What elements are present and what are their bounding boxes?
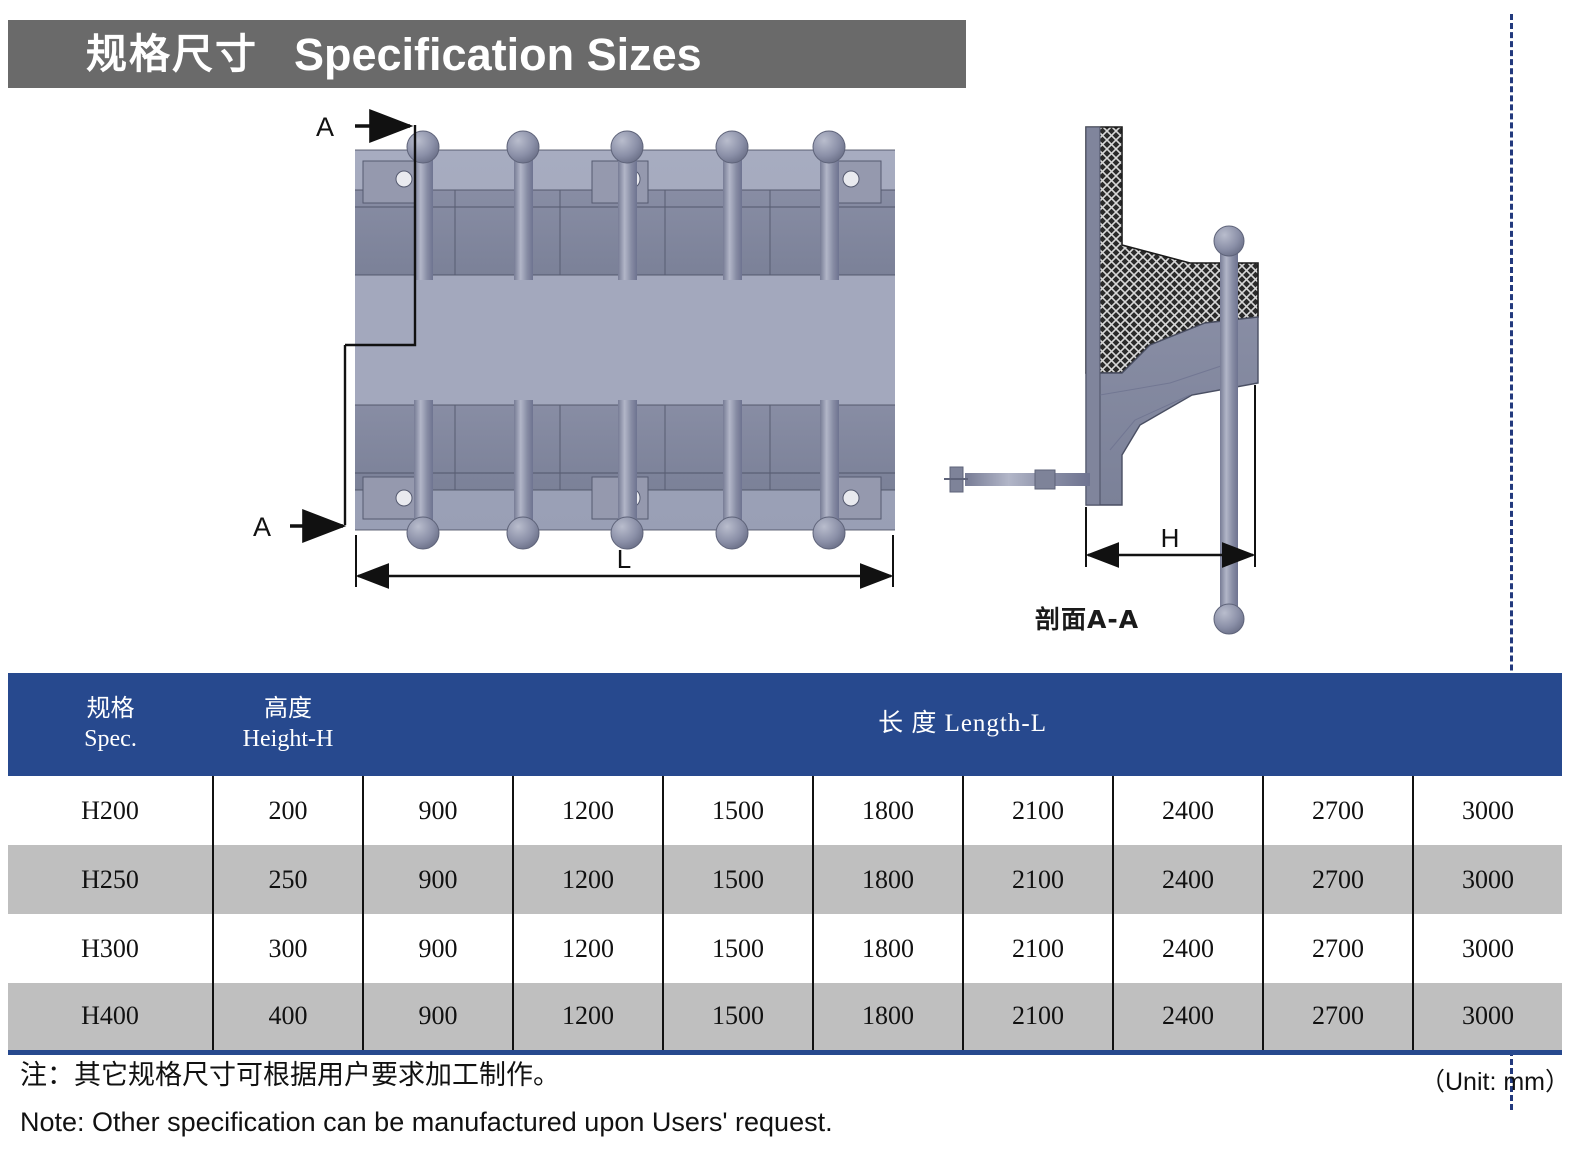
cell-length: 2400 bbox=[1113, 914, 1263, 983]
table-row: H300 300 900 1200 1500 1800 2100 2400 27… bbox=[8, 914, 1562, 983]
footer-notes: 注：其它规格尺寸可根据用户要求加工制作。 Note: Other specifi… bbox=[20, 1058, 1420, 1141]
cell-spec: H250 bbox=[8, 845, 213, 914]
header-length: 长 度 Length-L bbox=[363, 673, 1562, 776]
banner-title-english: Specification Sizes bbox=[294, 32, 702, 77]
note-chinese: 注：其它规格尺寸可根据用户要求加工制作。 bbox=[20, 1058, 1420, 1094]
table-body: H200 200 900 1200 1500 1800 2100 2400 27… bbox=[8, 776, 1562, 1052]
cell-length: 3000 bbox=[1413, 914, 1562, 983]
cell-length: 900 bbox=[363, 983, 513, 1052]
cell-length: 1200 bbox=[513, 983, 663, 1052]
cell-length: 2700 bbox=[1263, 776, 1413, 845]
cell-spec: H200 bbox=[8, 776, 213, 845]
note-english: Note: Other specification can be manufac… bbox=[20, 1104, 1420, 1140]
table-header: 规格 Spec. 高度 Height-H 长 度 Length-L bbox=[8, 673, 1562, 776]
length-dimension-label: L bbox=[617, 544, 631, 574]
cell-length: 2100 bbox=[963, 983, 1113, 1052]
cell-length: 1800 bbox=[813, 983, 963, 1052]
height-dimension-label: H bbox=[1161, 523, 1180, 553]
cell-length: 3000 bbox=[1413, 845, 1562, 914]
cell-length: 1500 bbox=[663, 983, 813, 1052]
header-height-cn: 高度 bbox=[214, 695, 362, 724]
cell-length: 1800 bbox=[813, 845, 963, 914]
cell-length: 1800 bbox=[813, 914, 963, 983]
cell-length: 900 bbox=[363, 845, 513, 914]
banner-title-chinese: 规格尺寸 bbox=[86, 34, 258, 75]
section-side-bolt bbox=[944, 467, 1090, 492]
page-header-banner: 规格尺寸 Specification Sizes bbox=[8, 20, 966, 88]
cell-length: 2700 bbox=[1263, 914, 1413, 983]
cell-length: 2400 bbox=[1113, 845, 1263, 914]
header-spec-en: Spec. bbox=[9, 725, 212, 754]
header-spec-cn: 规格 bbox=[9, 695, 212, 724]
specification-table: 规格 Spec. 高度 Height-H 长 度 Length-L H200 2… bbox=[8, 673, 1562, 1055]
plan-view: A A L bbox=[253, 112, 895, 587]
header-spec: 规格 Spec. bbox=[8, 673, 213, 776]
cell-length: 2100 bbox=[963, 776, 1113, 845]
mounting-flange bbox=[1086, 127, 1100, 505]
section-marker-top-label: A bbox=[316, 112, 334, 142]
unit-label: （Unit: mm） bbox=[1420, 1062, 1570, 1098]
cell-spec: H300 bbox=[8, 914, 213, 983]
section-marker-bottom-label: A bbox=[253, 512, 271, 542]
cell-height: 250 bbox=[213, 845, 363, 914]
cell-length: 1200 bbox=[513, 776, 663, 845]
cell-length: 2100 bbox=[963, 914, 1113, 983]
cell-length: 2400 bbox=[1113, 776, 1263, 845]
cell-length: 1500 bbox=[663, 914, 813, 983]
section-view-label: 剖面A-A bbox=[1035, 600, 1139, 636]
header-height: 高度 Height-H bbox=[213, 673, 363, 776]
cell-length: 1800 bbox=[813, 776, 963, 845]
header-height-en: Height-H bbox=[214, 725, 362, 754]
cell-length: 2400 bbox=[1113, 983, 1263, 1052]
cell-length: 3000 bbox=[1413, 776, 1562, 845]
cell-length: 2700 bbox=[1263, 983, 1413, 1052]
cell-height: 300 bbox=[213, 914, 363, 983]
cell-length: 1500 bbox=[663, 845, 813, 914]
cell-length: 1200 bbox=[513, 914, 663, 983]
section-view-aa: H bbox=[944, 127, 1258, 634]
table-row: H400 400 900 1200 1500 1800 2100 2400 27… bbox=[8, 983, 1562, 1052]
technical-drawing: A A L bbox=[0, 95, 1490, 655]
cell-spec: H400 bbox=[8, 983, 213, 1052]
cell-length: 900 bbox=[363, 914, 513, 983]
cell-length: 2100 bbox=[963, 845, 1113, 914]
drawing-svg: A A L bbox=[0, 95, 1490, 655]
cell-length: 2700 bbox=[1263, 845, 1413, 914]
cell-length: 900 bbox=[363, 776, 513, 845]
cell-height: 400 bbox=[213, 983, 363, 1052]
cell-height: 200 bbox=[213, 776, 363, 845]
specification-sizes-page: 规格尺寸 Specification Sizes bbox=[0, 0, 1570, 1153]
table-row: H200 200 900 1200 1500 1800 2100 2400 27… bbox=[8, 776, 1562, 845]
cell-length: 3000 bbox=[1413, 983, 1562, 1052]
table-row: H250 250 900 1200 1500 1800 2100 2400 27… bbox=[8, 845, 1562, 914]
cell-length: 1500 bbox=[663, 776, 813, 845]
cell-length: 1200 bbox=[513, 845, 663, 914]
